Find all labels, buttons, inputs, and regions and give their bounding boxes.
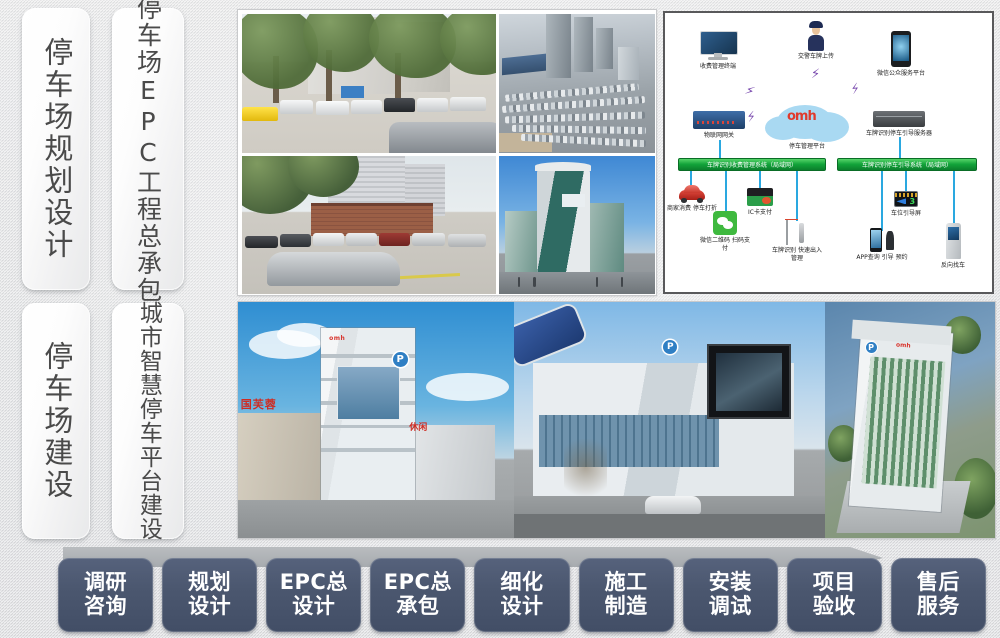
render-aerial-green-facade-tower: omh P xyxy=(825,302,995,538)
render-wide-garage-billboard: P omh xyxy=(514,302,824,538)
traffic-police-upload-label: 交警车牌上传 xyxy=(798,53,834,61)
architectural-render-strip: omh P 国芙蓉 休闲 P omh omh P xyxy=(238,302,995,538)
brand-logo-omh: omh xyxy=(329,335,345,342)
anpr-guidance-system-bar: 车牌识别停车引导系统（局域网） xyxy=(837,158,977,171)
wechat-icon xyxy=(713,211,737,235)
blue-car-graphic xyxy=(514,304,587,367)
ic-card-pay-label: IC卡支付 xyxy=(748,209,772,217)
lightning-link-icon: ⚡ xyxy=(743,84,756,99)
wechat-qr-pay-label: 微信二维码 扫码支付 xyxy=(699,237,751,252)
parking-p-icon: P xyxy=(663,340,677,354)
process-step-acceptance[interactable]: 项目 验收 xyxy=(787,558,882,632)
server-icon xyxy=(873,111,925,127)
charge-terminal-label: 收费管理终端 xyxy=(700,63,736,71)
process-step-epc-design[interactable]: EPC总 设计 xyxy=(266,558,361,632)
barrier-gate-icon xyxy=(783,217,811,245)
brand-logo-omh: omh xyxy=(896,342,911,350)
service-card-label: 城市智慧停车平台建设 xyxy=(135,301,162,541)
process-step-list: 调研 咨询 规划 设计 EPC总 设计 EPC总 承包 细化 设计 施工 制造 … xyxy=(58,558,986,632)
kiosk-icon xyxy=(946,223,961,259)
render-tall-mechanical-garage: omh P 国芙蓉 休闲 xyxy=(238,302,514,538)
lightning-link-icon: ⚡ xyxy=(811,68,820,81)
parking-p-icon: P xyxy=(393,352,408,367)
process-step-epc-contract[interactable]: EPC总 承包 xyxy=(370,558,465,632)
reverse-car-finding-label: 反向找车 xyxy=(941,262,965,270)
process-step-survey[interactable]: 调研 咨询 xyxy=(58,558,153,632)
lightning-link-icon: ⚡ xyxy=(849,82,862,97)
service-card-label: 停车场EPC工程总承包 xyxy=(134,0,163,304)
smartphone-icon xyxy=(891,31,911,67)
process-step-install-debug[interactable]: 安装 调试 xyxy=(683,558,778,632)
app-query-guidance-label: APP查询 引导 预约 xyxy=(856,254,908,262)
service-card-label: 停车场规划设计 xyxy=(39,37,73,261)
wechat-platform-label: 微信公众服务平台 xyxy=(877,70,925,78)
render-street-sign-2: 休闲 xyxy=(409,420,427,433)
cloud-label: 停车管理平台 xyxy=(789,143,825,151)
parking-p-icon: P xyxy=(866,342,877,353)
anpr-fast-gate-label: 车牌识别 快速出入管理 xyxy=(771,247,823,262)
photo-aerial-view-parking-rows xyxy=(499,14,655,153)
router-icon xyxy=(693,111,745,129)
service-card-smart-parking-platform[interactable]: 城市智慧停车平台建设 xyxy=(112,303,184,539)
photo-parking-lot-brick-building xyxy=(242,156,496,295)
service-card-parking-epc[interactable]: 停车场EPC工程总承包 xyxy=(112,8,184,290)
process-step-after-sales[interactable]: 售后 服务 xyxy=(891,558,986,632)
police-officer-icon xyxy=(805,21,827,51)
service-card-parking-planning[interactable]: 停车场规划设计 xyxy=(22,8,90,290)
space-guidance-screen-label: 车位引导屏 xyxy=(891,210,921,218)
process-step-detail-design[interactable]: 细化 设计 xyxy=(474,558,569,632)
service-card-parking-construction[interactable]: 停车场建设 xyxy=(22,303,90,539)
smart-parking-system-diagram: omh 停车管理平台 收费管理终端 交警车牌上传 微信公众服务平台 物联网网关 … xyxy=(663,11,994,294)
red-car-icon xyxy=(679,185,705,203)
process-step-planning[interactable]: 规划 设计 xyxy=(162,558,257,632)
app-phone-icon xyxy=(870,228,894,252)
led-sign-icon: 3 xyxy=(894,191,918,207)
merchant-discount-label: 商家消费 停车打折 xyxy=(666,205,718,213)
service-card-label: 停车场建设 xyxy=(39,341,73,501)
lightning-link-icon: ⚡ xyxy=(745,110,757,125)
anpr-charge-system-bar: 车牌识别收费管理系统（局域网） xyxy=(678,158,826,171)
render-street-sign-1: 国芙蓉 xyxy=(241,396,277,412)
cloud-logo-omh: omh xyxy=(787,109,816,124)
monitor-icon xyxy=(700,31,736,61)
project-photo-grid xyxy=(238,10,656,295)
iot-gateway-label: 物联网网关 xyxy=(704,132,734,140)
led-billboard xyxy=(707,344,792,419)
photo-surface-parking-lot-with-trees xyxy=(242,14,496,153)
ic-card-icon xyxy=(747,188,773,206)
process-step-manufacture[interactable]: 施工 制造 xyxy=(579,558,674,632)
photo-modern-office-tower xyxy=(499,156,655,295)
